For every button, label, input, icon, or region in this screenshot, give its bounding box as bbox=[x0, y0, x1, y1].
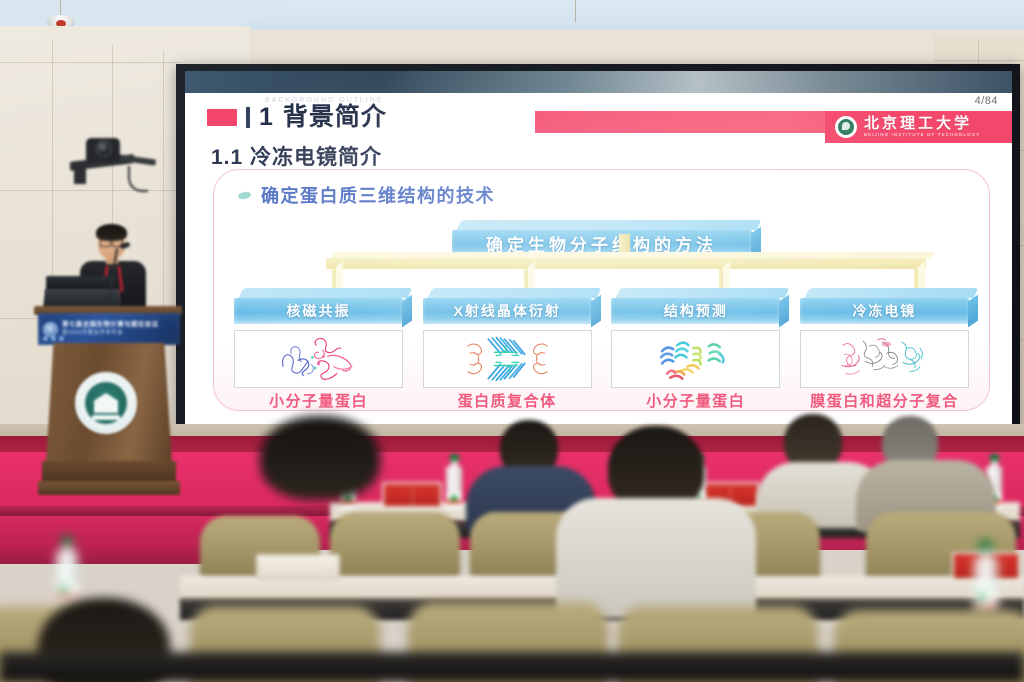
presentation-slide: BACKGROUND OUTLINE 4/84 北京理工大学 BEIJING I… bbox=[185, 71, 1012, 427]
branch-caption: 小分子量蛋白 bbox=[269, 393, 368, 410]
branch-label: 冷冻电镜 bbox=[852, 301, 916, 321]
podium-banner: 第七届全国生物计算与图论会议 暨2024专委会学术年会 bbox=[38, 313, 180, 345]
document-box bbox=[256, 554, 340, 580]
branch-caption: 膜蛋白和超分子复合 bbox=[810, 393, 959, 410]
diagram-root-node: 确定生物分子结构的方法 bbox=[452, 220, 752, 256]
slide-section-number: 1 bbox=[259, 105, 274, 130]
conference-room-photo: BACKGROUND OUTLINE 4/84 北京理工大学 BEIJING I… bbox=[0, 0, 1024, 682]
diagram-branch: 冷冻电镜 bbox=[800, 288, 969, 410]
audience-area bbox=[0, 430, 1024, 682]
diagram-beam-horizontal bbox=[326, 258, 926, 269]
podium-sponsor-icons bbox=[43, 336, 64, 341]
diagram-branch: X射线晶体衍射 bbox=[423, 288, 592, 410]
university-name-cn: 北京理工大学 bbox=[864, 116, 980, 131]
water-bottle bbox=[974, 540, 998, 610]
branch-thumbnail-prediction bbox=[611, 330, 780, 388]
branch-caption: 小分子量蛋白 bbox=[646, 393, 745, 410]
slide-top-band bbox=[185, 71, 1012, 93]
bullet-leaf-icon bbox=[237, 190, 251, 200]
methods-diagram: 确定生物分子结构的方法 bbox=[214, 214, 989, 410]
slide-subsection-title: 1.1 冷冻电镜简介 bbox=[211, 141, 382, 171]
university-name-en: BEIJING INSTITUTE OF TECHNOLOGY bbox=[864, 133, 980, 138]
projection-screen: BACKGROUND OUTLINE 4/84 北京理工大学 BEIJING I… bbox=[176, 64, 1020, 436]
title-accent-bar bbox=[246, 107, 250, 128]
branch-thumbnail-cryoem bbox=[800, 330, 969, 388]
title-accent-block bbox=[207, 109, 237, 126]
water-bottle bbox=[56, 536, 78, 600]
wall-seam bbox=[0, 62, 180, 63]
slide-bullet-text: 确定蛋白质三维结构的技术 bbox=[261, 182, 495, 208]
conference-seal-icon bbox=[43, 322, 58, 337]
branch-node: 冷冻电镜 bbox=[800, 288, 969, 324]
university-seal-icon bbox=[835, 116, 857, 138]
diagram-branch: 结构预测 bbox=[611, 288, 780, 410]
university-emblem-icon bbox=[75, 372, 137, 434]
podium-banner-line2: 暨2024专委会学术年会 bbox=[62, 331, 159, 337]
water-bottle bbox=[446, 454, 462, 506]
podium-banner-line1: 第七届全国生物计算与图论会议 bbox=[62, 322, 159, 329]
diagram-branch: 核磁共振 bbox=[234, 288, 403, 410]
diagram-branch-row: 核磁共振 bbox=[226, 288, 977, 410]
branch-label: X射线晶体衍射 bbox=[453, 301, 560, 321]
alarm-wire bbox=[60, 0, 61, 16]
branch-node: 核磁共振 bbox=[234, 288, 403, 324]
branch-thumbnail-xray bbox=[423, 330, 592, 388]
university-logo-bar: 北京理工大学 BEIJING INSTITUTE OF TECHNOLOGY bbox=[825, 111, 1012, 143]
branch-node: 结构预测 bbox=[611, 288, 780, 324]
slide-section-title: 背景简介 bbox=[283, 105, 387, 130]
branch-node: X射线晶体衍射 bbox=[423, 288, 592, 324]
slide-page-number: 4/84 bbox=[975, 95, 998, 107]
branch-caption: 蛋白质复合体 bbox=[458, 393, 557, 410]
wall-seam bbox=[0, 190, 180, 191]
slide-bullet: 确定蛋白质三维结构的技术 bbox=[238, 182, 495, 208]
branch-label: 核磁共振 bbox=[287, 301, 351, 321]
audience-person bbox=[236, 430, 406, 550]
wall-seam bbox=[934, 60, 1024, 61]
branch-thumbnail-nmr bbox=[234, 330, 403, 388]
slide-title-row: 1 背景简介 bbox=[207, 105, 387, 130]
slide-content-card: 确定蛋白质三维结构的技术 确定生物分子结构的方法 bbox=[213, 169, 990, 411]
foreground-table-edge bbox=[0, 652, 1024, 682]
audience-person bbox=[556, 426, 756, 612]
branch-label: 结构预测 bbox=[664, 301, 728, 321]
ceiling-wire-2 bbox=[575, 0, 576, 22]
